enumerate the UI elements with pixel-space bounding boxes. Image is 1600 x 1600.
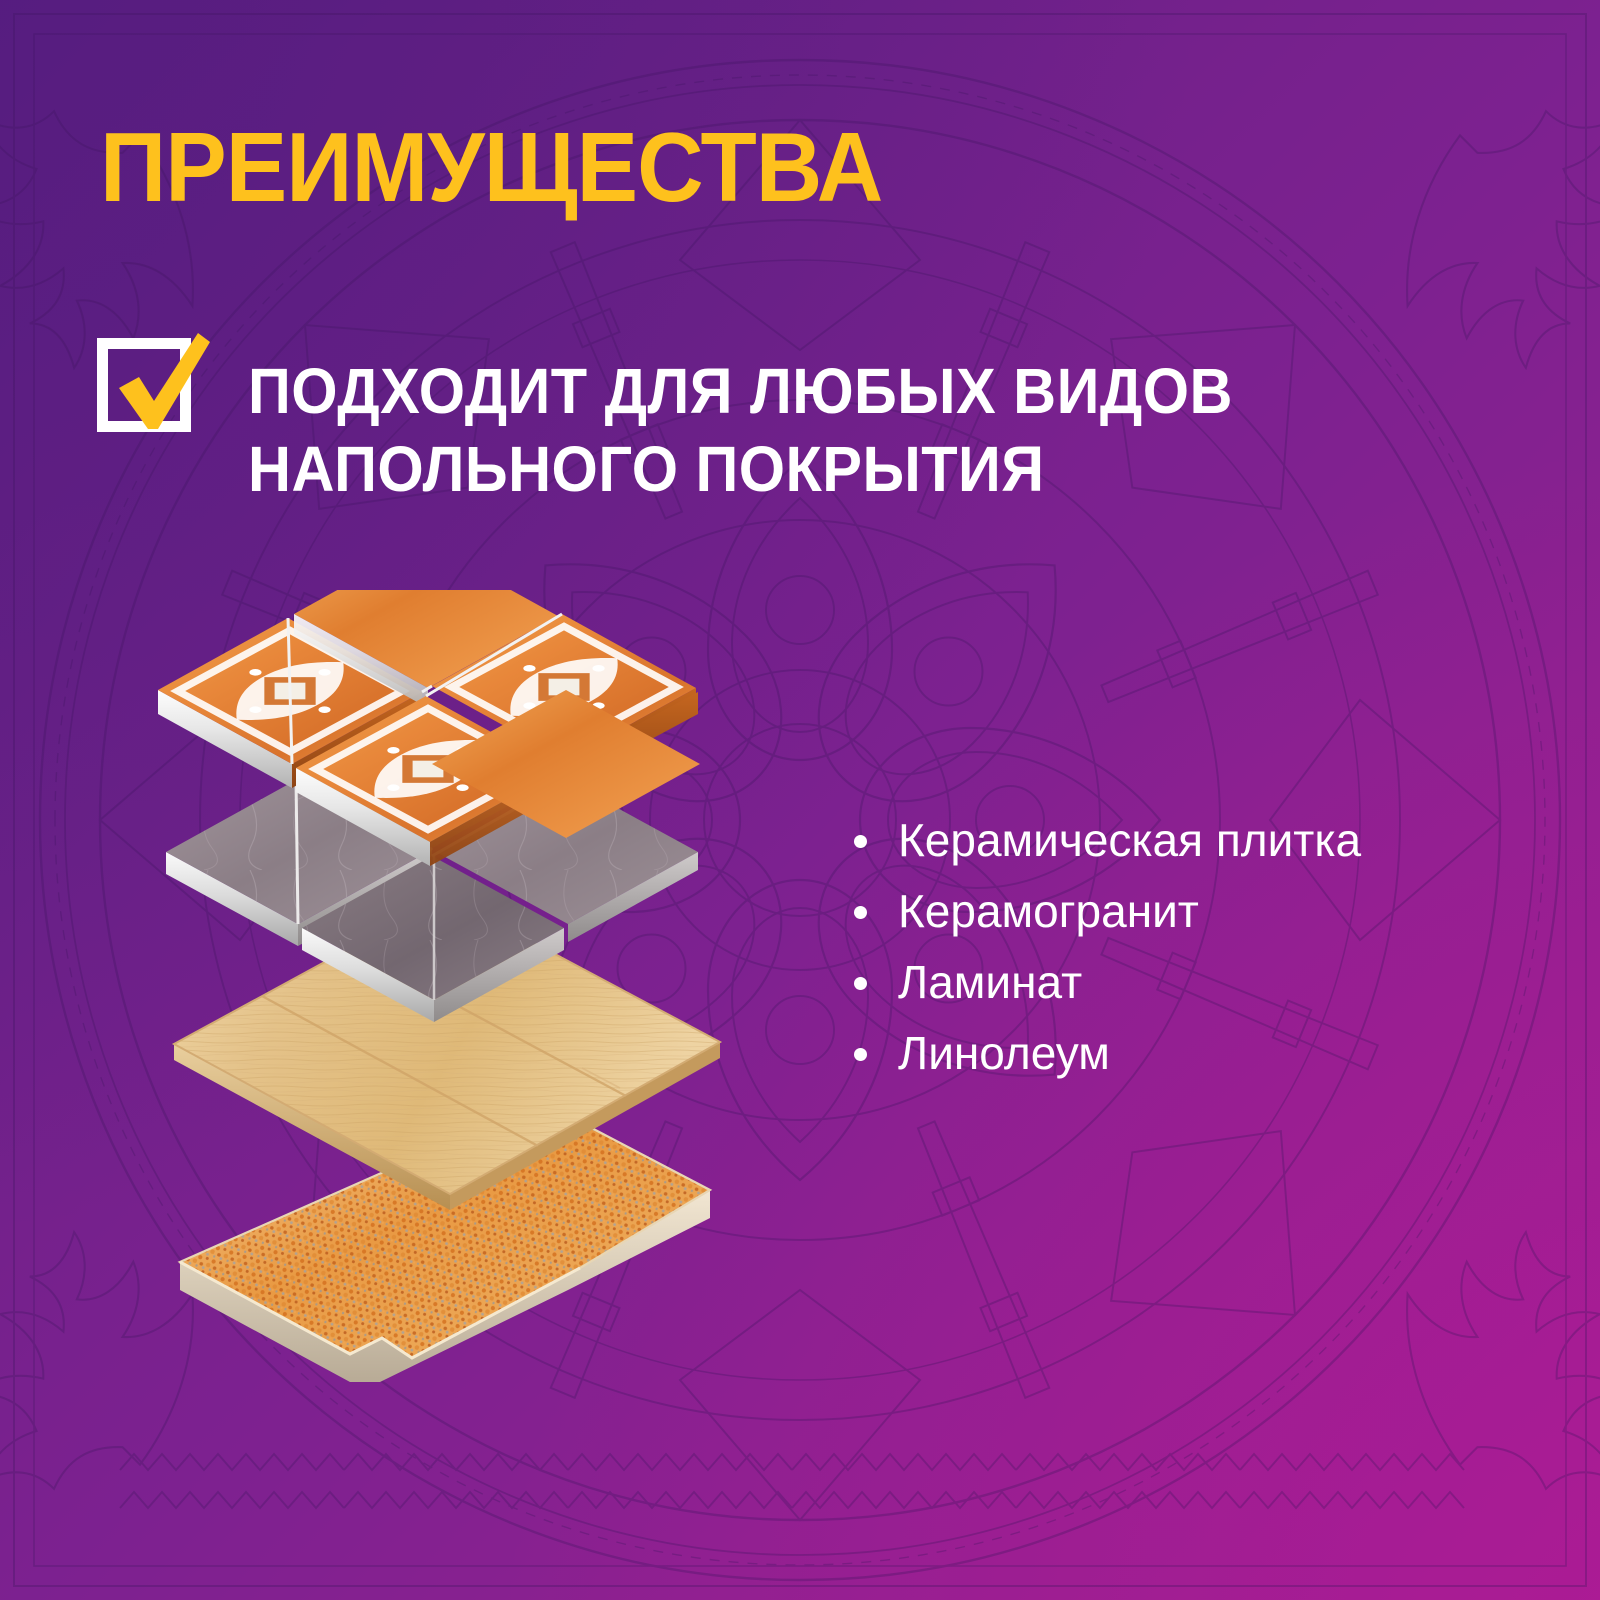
feature-headline: ПОДХОДИТ ДЛЯ ЛЮБЫХ ВИДОВ НАПОЛЬНОГО ПОКР… [248, 352, 1262, 508]
checkmark-icon [92, 325, 212, 445]
list-item-label: Ламинат [898, 956, 1082, 1008]
list-item: Керамическая плитка [852, 805, 1361, 876]
bullet-dot-icon [854, 906, 867, 919]
list-item: Линолеум [852, 1018, 1361, 1089]
page-title: ПРЕИМУЩЕСТВА [100, 118, 882, 216]
checkbox-checked-icon [92, 325, 212, 445]
list-item: Керамогранит [852, 876, 1361, 947]
exploded-floor-layers-illustration [150, 590, 770, 1410]
bullet-dot-icon [854, 1048, 867, 1061]
bullet-dot-icon [854, 835, 867, 848]
bullet-dot-icon [854, 977, 867, 990]
promo-slide: ПРЕИМУЩЕСТВА ПОДХОДИТ ДЛЯ ЛЮБЫХ ВИДОВ НА… [0, 0, 1600, 1600]
coverage-list: Керамическая плитка Керамогранит Ламинат… [852, 805, 1361, 1089]
list-item-label: Керамическая плитка [898, 814, 1361, 866]
headline-line-2: НАПОЛЬНОГО ПОКРЫТИЯ [248, 430, 1262, 508]
list-item-label: Линолеум [898, 1027, 1110, 1079]
list-item: Ламинат [852, 947, 1361, 1018]
list-item-label: Керамогранит [898, 885, 1199, 937]
headline-line-1: ПОДХОДИТ ДЛЯ ЛЮБЫХ ВИДОВ [248, 352, 1262, 430]
